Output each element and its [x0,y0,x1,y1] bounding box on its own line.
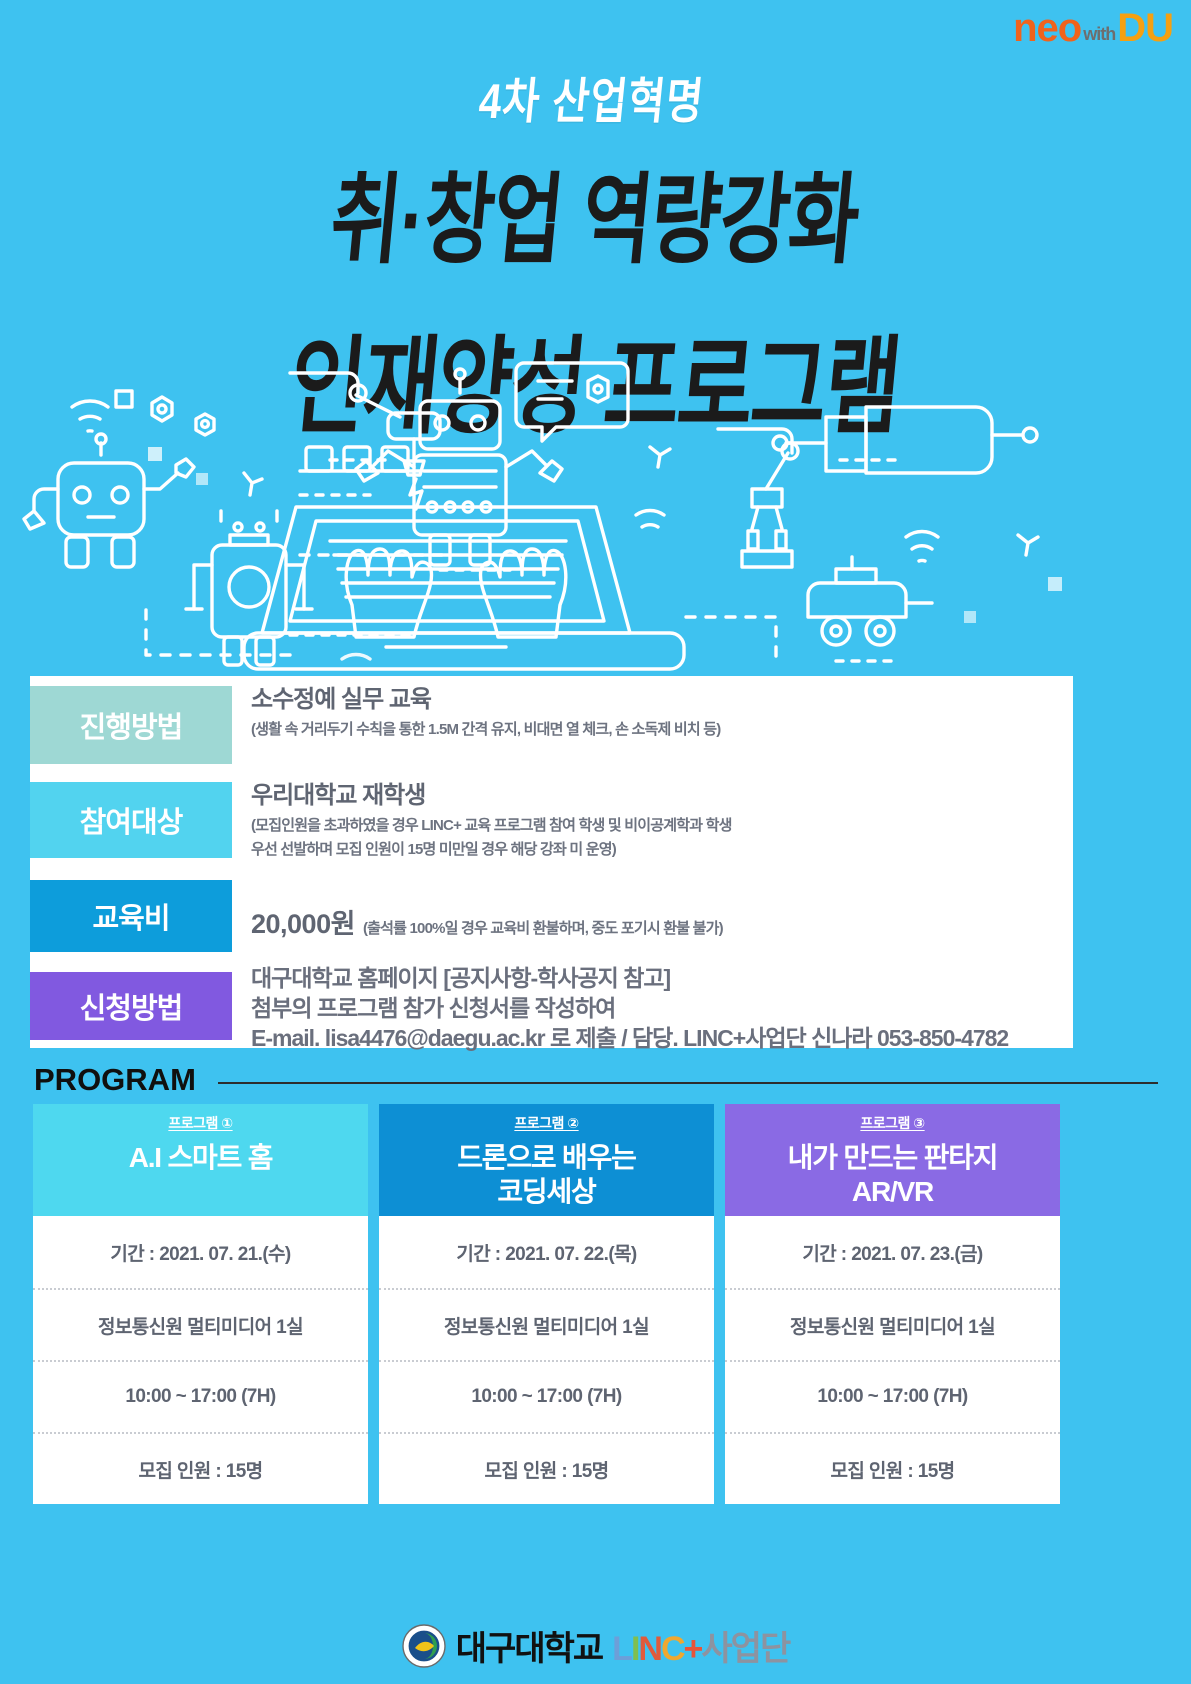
info-body-method: 소수정예 실무 교육 (생활 속 거리두기 수칙을 통한 1.5M 간격 유지,… [232,686,1073,764]
program-section-heading: PROGRAM [34,1062,1158,1098]
info-label-audience: 참여대상 [30,782,232,858]
program-card-header: 프로그램 ③ 내가 만드는 판타지 AR/VR [725,1104,1060,1216]
program-card-title-line-1: 내가 만드는 판타지 [788,1141,998,1175]
audience-main-text: 우리대학교 재학생 [251,782,1073,810]
info-body-fee: 20,000원 (출석률 100%일 경우 교육비 환불하며, 중도 포기시 환… [232,880,1073,952]
program-card-period: 기간 : 2021. 07. 22.(목) [379,1216,714,1288]
program-card-quota: 모집 인원 : 15명 [379,1432,714,1504]
fee-note: (출석률 100%일 경우 교육비 환불하며, 중도 포기시 환불 불가) [363,917,723,938]
du-wordmark: DU [1117,8,1173,48]
program-card-time: 10:00 ~ 17:00 (7H) [725,1360,1060,1432]
program-card-place: 정보통신원 멀티미디어 1실 [33,1288,368,1360]
program-card-time: 10:00 ~ 17:00 (7H) [33,1360,368,1432]
title-line-1: 취·창업 역량강화 [0,140,1191,283]
daegu-university-wordmark: 대구대학교 [456,1621,602,1670]
program-card-body: 기간 : 2021. 07. 22.(목) 정보통신원 멀티미디어 1실 10:… [379,1216,714,1504]
audience-sub-text-2: 우선 선발하며 모집 인원이 15명 미만일 경우 해당 강좌 미 운영) [251,838,1073,861]
program-card[interactable]: 프로그램 ③ 내가 만드는 판타지 AR/VR 기간 : 2021. 07. 2… [725,1104,1060,1504]
program-card-period: 기간 : 2021. 07. 21.(수) [33,1216,368,1288]
info-row-method: 진행방법 소수정예 실무 교육 (생활 속 거리두기 수칙을 통한 1.5M 간… [30,686,1073,764]
apply-line-1: 대구대학교 홈페이지 [공지사항-학사공지 참고] [251,964,1073,994]
footer-logo-bar: 대구대학교 L I N C + 사업단 [0,1621,1191,1670]
linc-plus-logo: L I N C + 사업단 [612,1621,789,1670]
program-card-kicker: 프로그램 ② [514,1113,578,1133]
program-card-kicker: 프로그램 ① [168,1113,232,1133]
info-row-fee: 교육비 20,000원 (출석률 100%일 경우 교육비 환불하며, 중도 포… [30,880,1073,952]
neo-with-du-logo: neo with DU [1013,8,1173,48]
program-card-title: 내가 만드는 판타지 AR/VR [788,1141,998,1209]
title-kicker: 4차 산업혁명 [0,62,1191,133]
linc-suffix-label: 사업단 [701,1621,789,1670]
program-card-header: 프로그램 ② 드론으로 배우는 코딩세상 [379,1104,714,1216]
info-row-apply: 신청방법 대구대학교 홈페이지 [공지사항-학사공지 참고] 첨부의 프로그램 … [30,972,1073,1054]
linc-letter-i: I [631,1630,638,1669]
info-row-audience: 참여대상 우리대학교 재학생 (모집인원을 초과하였을 경우 LINC+ 교육 … [30,782,1073,861]
program-card[interactable]: 프로그램 ① A.I 스마트 홈 기간 : 2021. 07. 21.(수) 정… [33,1104,368,1504]
linc-plus-sign: + [684,1630,702,1669]
info-label-apply: 신청방법 [30,972,232,1040]
program-card-place: 정보통신원 멀티미디어 1실 [379,1288,714,1360]
info-body-audience: 우리대학교 재학생 (모집인원을 초과하였을 경우 LINC+ 교육 프로그램 … [232,782,1073,861]
program-card-place: 정보통신원 멀티미디어 1실 [725,1288,1060,1360]
neo-wordmark: neo [1013,8,1081,48]
info-panel: 진행방법 소수정예 실무 교육 (생활 속 거리두기 수칙을 통한 1.5M 간… [30,676,1073,1048]
info-label-method: 진행방법 [30,686,232,764]
program-card-header: 프로그램 ① A.I 스마트 홈 [33,1104,368,1216]
program-heading-label: PROGRAM [34,1062,196,1098]
program-card-title-line-2: 코딩세상 [457,1175,636,1209]
program-heading-rule [218,1082,1158,1084]
info-label-fee: 교육비 [30,880,232,952]
program-card[interactable]: 프로그램 ② 드론으로 배우는 코딩세상 기간 : 2021. 07. 22.(… [379,1104,714,1504]
method-main-text: 소수정예 실무 교육 [251,686,1073,714]
program-card-quota: 모집 인원 : 15명 [33,1432,368,1504]
with-wordmark: with [1083,20,1115,48]
program-card-body: 기간 : 2021. 07. 21.(수) 정보통신원 멀티미디어 1실 10:… [33,1216,368,1504]
program-card-list: 프로그램 ① A.I 스마트 홈 기간 : 2021. 07. 21.(수) 정… [33,1104,1160,1504]
audience-sub-text-1: (모집인원을 초과하였을 경우 LINC+ 교육 프로그램 참여 학생 및 비이… [251,814,1073,837]
program-card-period: 기간 : 2021. 07. 23.(금) [725,1216,1060,1288]
program-card-title: A.I 스마트 홈 [129,1141,273,1175]
program-card-title: 드론으로 배우는 코딩세상 [457,1141,636,1209]
daegu-university-seal-icon [402,1624,446,1668]
linc-letter-l: L [612,1630,631,1669]
apply-line-3: E-mail. lisa4476@daegu.ac.kr 로 제출 / 담당. … [251,1024,1073,1054]
program-card-title-line-2: AR/VR [788,1175,998,1209]
linc-letter-n: N [638,1630,661,1669]
info-body-apply: 대구대학교 홈페이지 [공지사항-학사공지 참고] 첨부의 프로그램 참가 신청… [232,964,1073,1054]
program-card-kicker: 프로그램 ③ [860,1113,924,1133]
fee-amount: 20,000원 [251,902,355,941]
linc-letter-c: C [661,1630,684,1669]
method-sub-text-1: (생활 속 거리두기 수칙을 통한 1.5M 간격 유지, 비대면 열 체크, … [251,718,1073,741]
program-card-body: 기간 : 2021. 07. 23.(금) 정보통신원 멀티미디어 1실 10:… [725,1216,1060,1504]
apply-line-2: 첨부의 프로그램 참가 신청서를 작성하여 [251,994,1073,1024]
program-card-title-line-1: 드론으로 배우는 [457,1141,636,1175]
industry-4-illustration [0,355,1191,685]
program-card-quota: 모집 인원 : 15명 [725,1432,1060,1504]
program-card-time: 10:00 ~ 17:00 (7H) [379,1360,714,1432]
